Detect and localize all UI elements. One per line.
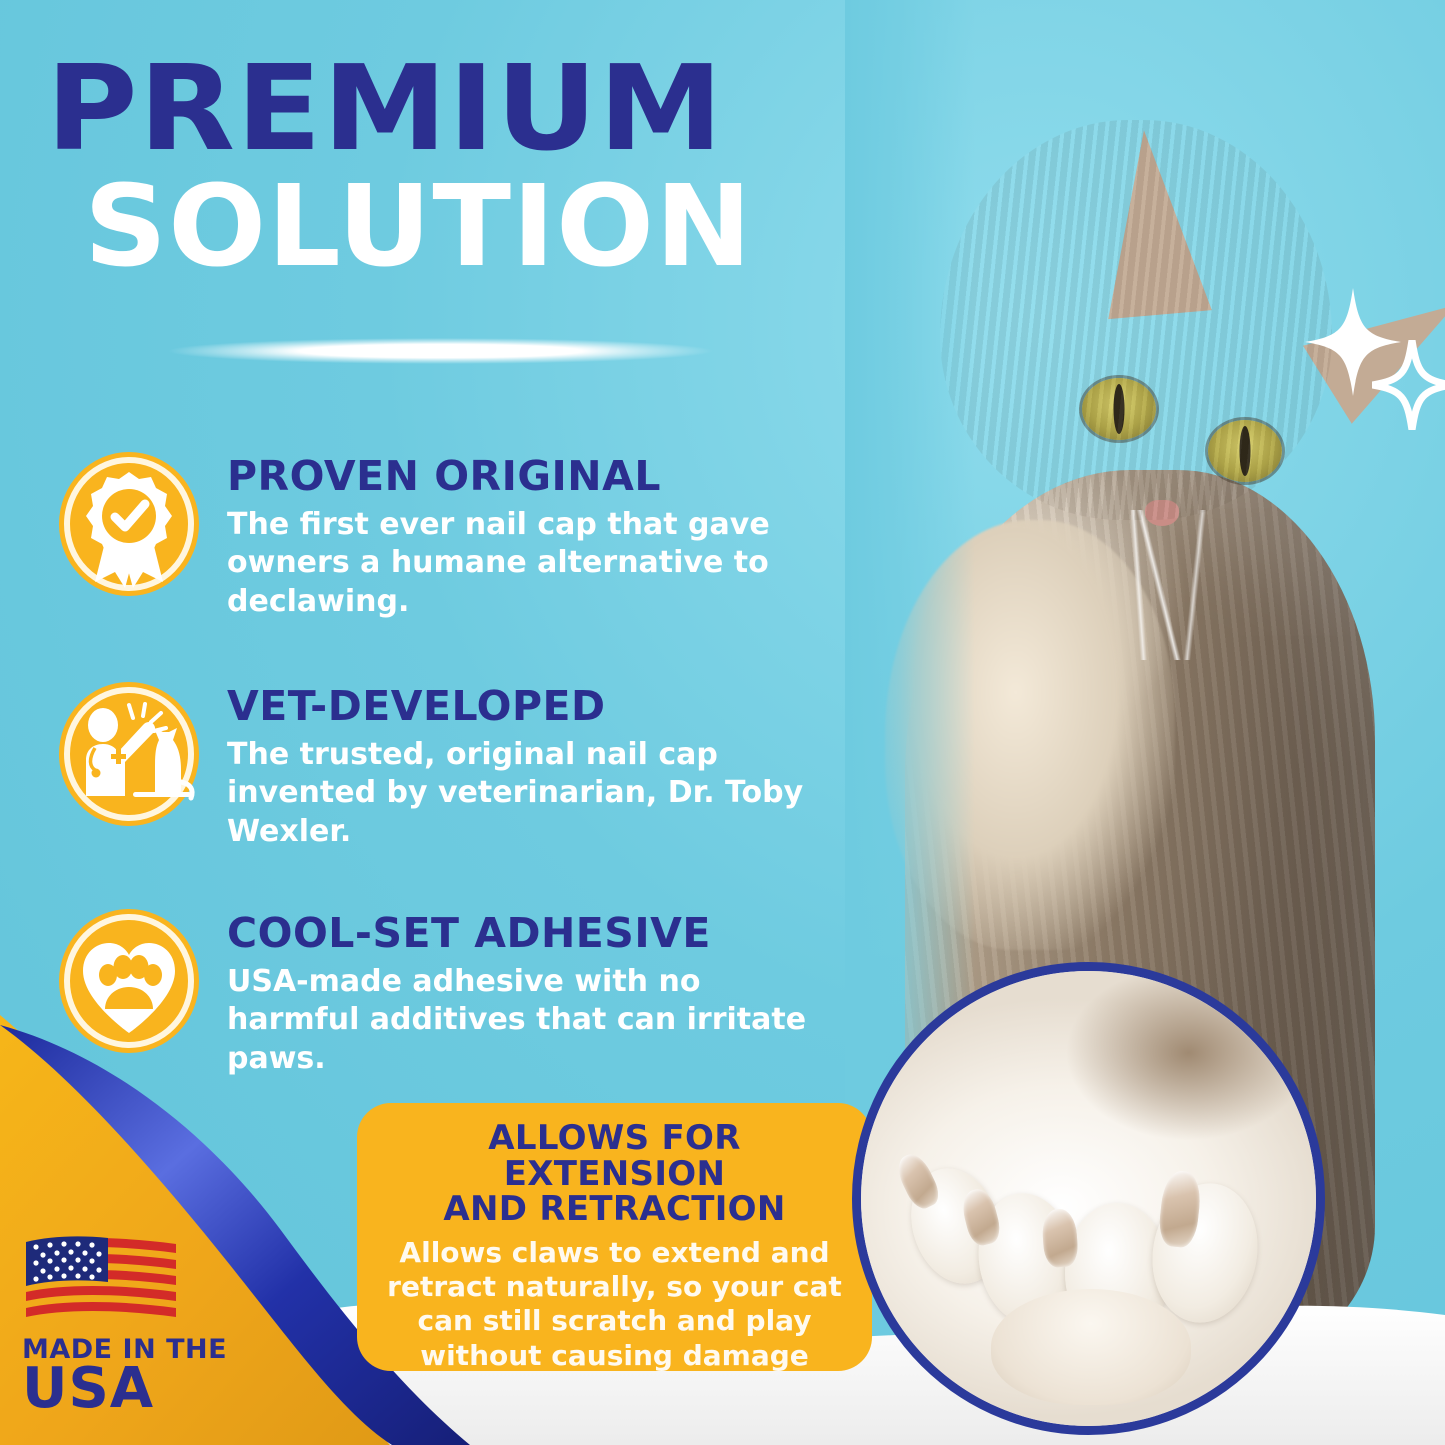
cat-head [940, 120, 1332, 520]
sparkle-outline-icon [1372, 340, 1445, 430]
award-ribbon-icon [55, 448, 203, 600]
feature-text: VET-DEVELOPED The trusted, original nail… [227, 678, 807, 851]
feature-title: PROVEN ORIGINAL [227, 452, 807, 500]
vet-high-five-cat-icon [55, 678, 203, 830]
cat-ear-left [1092, 126, 1212, 319]
cat-paw-closeup [852, 962, 1325, 1435]
cat-eye-right [1208, 420, 1282, 482]
callout-title-line-2: AND RETRACTION [443, 1189, 785, 1229]
cat-nose [1145, 500, 1179, 526]
headline-line-2: SOLUTION [84, 171, 848, 283]
feature-body: The first ever nail cap that gave owners… [227, 506, 807, 621]
feature-row-vet-developed: VET-DEVELOPED The trusted, original nail… [55, 678, 855, 851]
us-flag-icon [22, 1232, 182, 1324]
feature-body: USA-made adhesive with no harmful additi… [227, 963, 807, 1078]
cat-eye-left [1082, 378, 1156, 440]
heart-paw-icon [55, 905, 203, 1057]
feature-row-cool-set-adhesive: COOL-SET ADHESIVE USA-made adhesive with… [55, 905, 855, 1078]
extension-retraction-callout: ALLOWS FOR EXTENSION AND RETRACTION Allo… [357, 1103, 872, 1371]
callout-title: ALLOWS FOR EXTENSION AND RETRACTION [379, 1121, 850, 1228]
paw-photo [861, 971, 1316, 1426]
paw-pad [991, 1289, 1191, 1405]
callout-body: Allows claws to extend and retract natur… [379, 1236, 850, 1373]
product-feature-poster: PREMIUM SOLUTION PROVEN ORIGINAL The fir… [0, 0, 1445, 1445]
headline: PREMIUM SOLUTION [46, 52, 826, 283]
feature-title: VET-DEVELOPED [227, 682, 807, 730]
feature-row-proven-original: PROVEN ORIGINAL The first ever nail cap … [55, 448, 855, 621]
feature-body: The trusted, original nail cap invented … [227, 736, 807, 851]
feature-text: COOL-SET ADHESIVE USA-made adhesive with… [227, 905, 807, 1078]
made-in-usa-badge: MADE IN THE USA [22, 1232, 237, 1417]
nail-cap [1041, 1208, 1079, 1268]
feature-text: PROVEN ORIGINAL The first ever nail cap … [227, 448, 807, 621]
headline-line-1: PREMIUM [46, 52, 873, 165]
made-in-usa-line-2: USA [22, 1361, 237, 1417]
callout-title-line-1: ALLOWS FOR EXTENSION [488, 1118, 740, 1194]
feature-title: COOL-SET ADHESIVE [227, 909, 807, 957]
headline-underline-swoosh [168, 338, 713, 364]
